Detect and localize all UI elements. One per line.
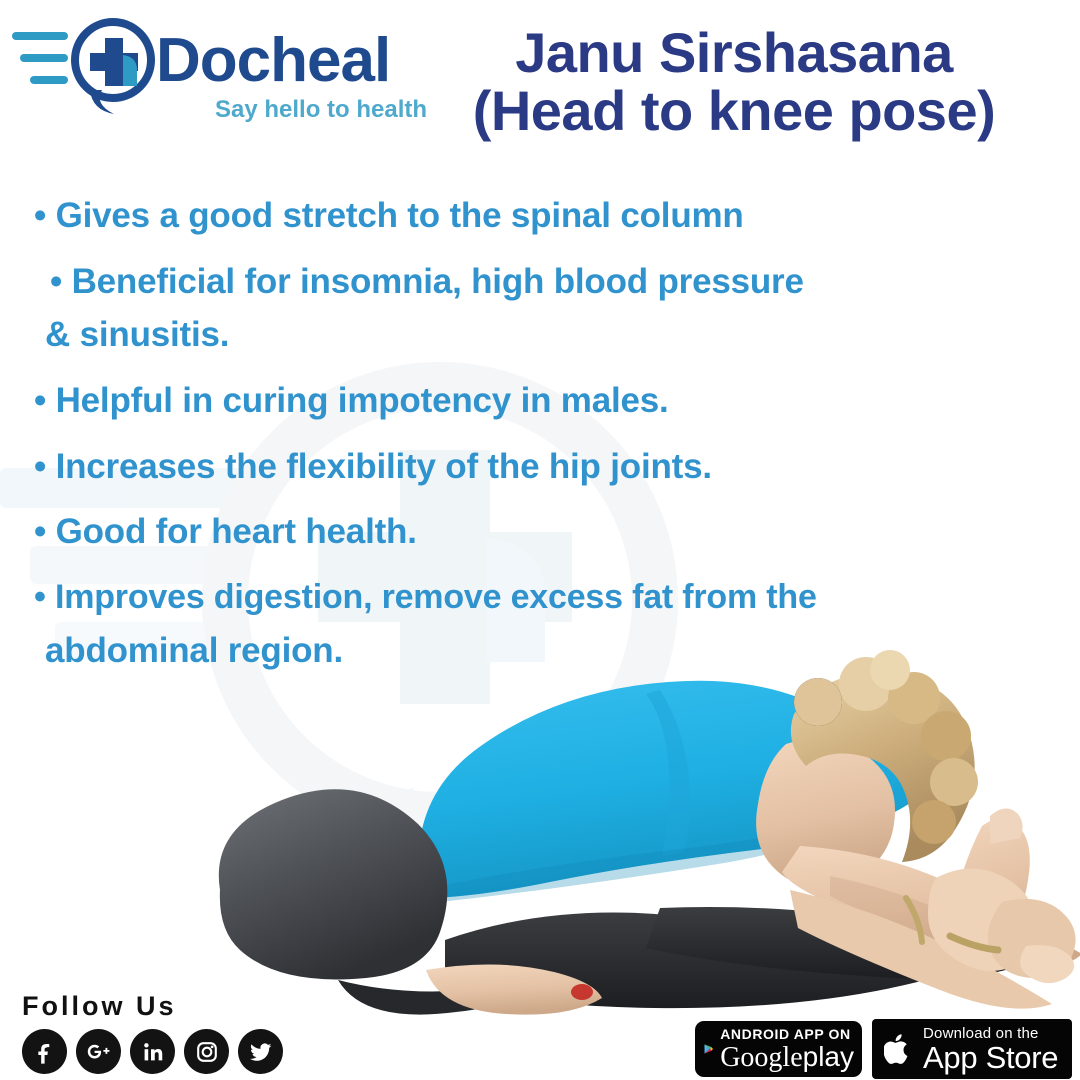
app-store-small-text: Download on the <box>923 1026 1058 1041</box>
list-item: • Beneficial for insomnia, high blood pr… <box>0 264 1080 300</box>
instagram-icon[interactable] <box>184 1029 229 1074</box>
follow-us-label: Follow Us <box>22 993 283 1020</box>
list-item: • Helpful in curing impotency in males. <box>0 383 1080 419</box>
list-item: • Good for heart health. <box>0 514 1080 550</box>
docheal-speech-bubble-cross-logo <box>8 14 160 114</box>
infographic-poster: Docheal Say hello to health Janu Sirshas… <box>0 0 1080 1080</box>
google-play-small-text: ANDROID APP ON <box>720 1027 854 1041</box>
apple-logo-icon <box>884 1032 913 1067</box>
brand-name: Docheal <box>156 30 390 92</box>
yoga-pose-photo <box>190 640 1080 1030</box>
page-title: Janu Sirshasana (Head to knee pose) <box>404 24 1064 140</box>
facebook-icon[interactable] <box>22 1029 67 1074</box>
google-plus-icon[interactable] <box>76 1029 121 1074</box>
google-play-badge[interactable]: ANDROID APP ON Googleplay <box>695 1021 862 1077</box>
app-store-brand: App Store <box>923 1042 1058 1073</box>
brand-logo[interactable]: Docheal Say hello to health <box>8 14 416 122</box>
follow-us-block: Follow Us <box>22 993 283 1074</box>
google-play-triangle-icon <box>704 1031 713 1067</box>
title-line-1: Janu Sirshasana <box>404 24 1064 82</box>
list-item: abdominal region. <box>0 633 1080 669</box>
app-store-badges: ANDROID APP ON Googleplay Download on th… <box>695 1019 1072 1079</box>
app-store-badge[interactable]: Download on the App Store <box>872 1019 1072 1079</box>
social-links <box>22 1029 283 1074</box>
list-item: & sinusitis. <box>0 317 1080 353</box>
list-item: • Increases the flexibility of the hip j… <box>0 449 1080 485</box>
list-item: • Gives a good stretch to the spinal col… <box>0 198 1080 234</box>
google-play-brand: Google <box>720 1042 802 1073</box>
poster-header: Docheal Say hello to health Janu Sirshas… <box>0 0 1080 180</box>
benefits-list: • Gives a good stretch to the spinal col… <box>0 198 1080 698</box>
twitter-icon[interactable] <box>238 1029 283 1074</box>
linkedin-icon[interactable] <box>130 1029 175 1074</box>
google-play-suffix: play <box>803 1041 854 1072</box>
title-line-2: (Head to knee pose) <box>404 82 1064 140</box>
list-item: • Improves digestion, remove excess fat … <box>0 580 1080 615</box>
brand-tagline: Say hello to health <box>215 98 427 122</box>
